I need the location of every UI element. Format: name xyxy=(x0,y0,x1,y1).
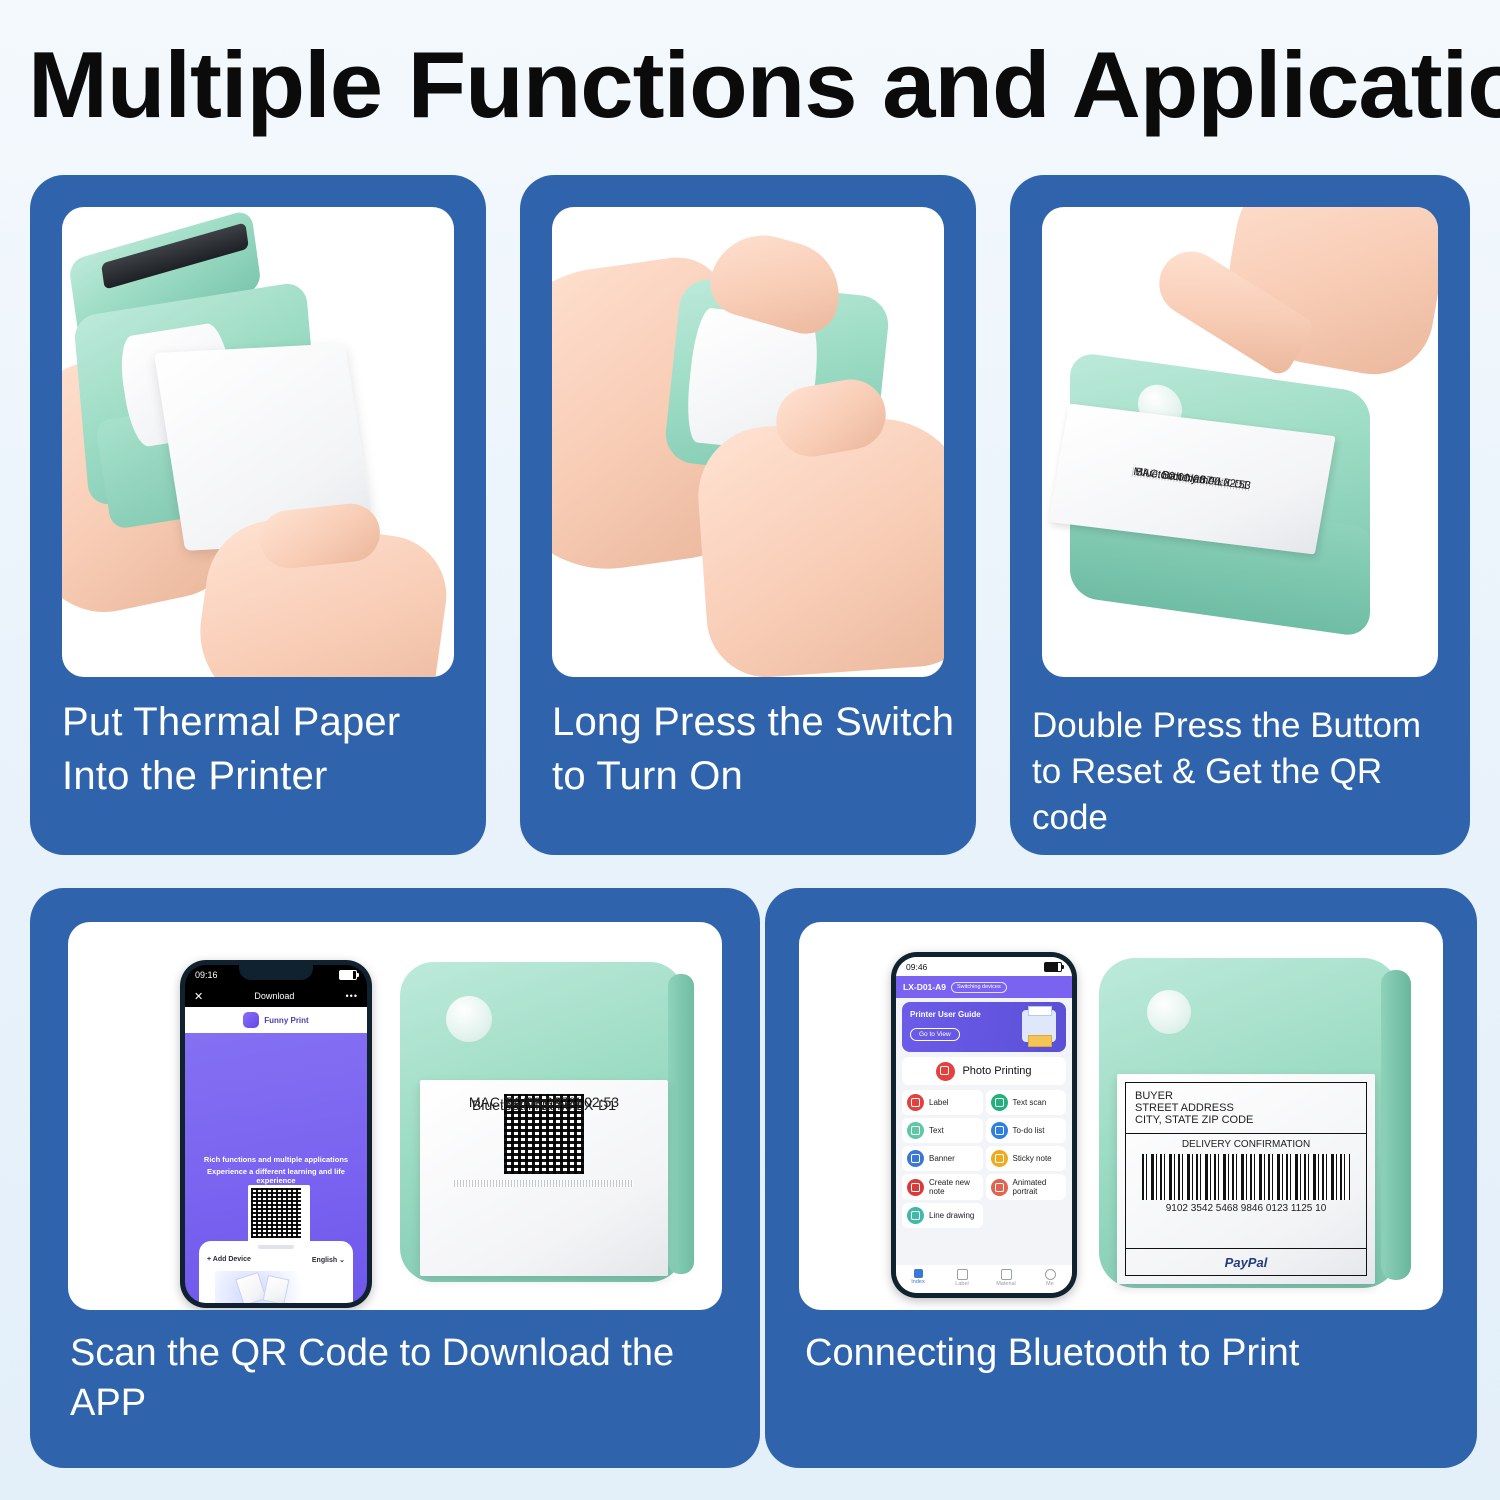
switch-devices-button[interactable]: Switching devices xyxy=(951,982,1007,993)
user-icon xyxy=(1045,1269,1056,1280)
printed-qr-label-content: Bluetooth Name:LX-D1 MAC:C0:00:00:00:02:… xyxy=(420,1080,668,1276)
card-put-thermal-paper: Put Thermal Paper Into the Printer xyxy=(30,175,486,855)
grid-item[interactable]: Create new note xyxy=(902,1174,983,1200)
tab-index[interactable]: Index xyxy=(896,1265,940,1293)
add-device-button[interactable]: + Add Device xyxy=(207,1256,251,1263)
printer-guide-card[interactable]: Printer User Guide Go to View xyxy=(902,1002,1066,1052)
scene-power-on xyxy=(552,207,944,677)
grid-item-label: Banner xyxy=(929,1154,955,1163)
app-name: Funny Print xyxy=(264,1016,308,1025)
phone-screen: 09:16 ✕ Download ••• Funny Print xyxy=(185,965,367,1303)
buyer-line: BUYER xyxy=(1135,1090,1357,1102)
banner-icon xyxy=(907,1150,924,1167)
to-do-list-icon xyxy=(991,1122,1008,1139)
card-long-press-switch: Long Press the Switch to Turn On xyxy=(520,175,976,855)
power-button[interactable] xyxy=(1147,990,1191,1034)
card-5-photo: 09:46 LX-D01-A9 Switching devices Printe… xyxy=(799,922,1443,1310)
chevron-down-icon: ⌄ xyxy=(339,1257,345,1264)
language-selector[interactable]: English ⌄ xyxy=(312,1256,345,1264)
tab-label: Label xyxy=(940,1280,984,1289)
grid-item[interactable]: Text scan xyxy=(986,1090,1067,1115)
label-battery: Battery:87% xyxy=(506,1094,582,1110)
label-battery: Battery:87% xyxy=(1161,469,1223,488)
line-drawing-icon xyxy=(907,1207,924,1224)
scene-download-app: 09:16 ✕ Download ••• Funny Print xyxy=(68,922,722,1310)
app-header: Funny Print xyxy=(185,1007,367,1033)
phone-navbar: ✕ Download ••• xyxy=(185,985,367,1007)
tab-label: Index xyxy=(896,1278,940,1287)
grid-item[interactable]: Text xyxy=(902,1118,983,1143)
grid-item-label: Create new note xyxy=(929,1178,978,1196)
scene-double-press: Bluetooth Name:LX-D1 MAC:C0:00:00:00:02:… xyxy=(1042,207,1438,677)
tag-icon xyxy=(957,1269,968,1280)
home-icon xyxy=(914,1269,923,1278)
printer-side xyxy=(1381,970,1411,1280)
nav-title: Download xyxy=(254,991,294,1001)
file-icon xyxy=(1001,1269,1012,1280)
text-scan-icon xyxy=(991,1094,1008,1111)
card-3-caption: Double Press the Buttom to Reset & Get t… xyxy=(1032,703,1456,841)
grid-item[interactable]: Sticky note xyxy=(986,1146,1067,1171)
card-1-photo xyxy=(62,207,454,677)
card-4-caption: Scan the QR Code to Download the APP xyxy=(70,1328,730,1428)
device-bar: LX-D01-A9 Switching devices xyxy=(896,976,1072,998)
grid-item-label: Text xyxy=(929,1126,944,1135)
status-bar: 09:46 xyxy=(896,957,1072,976)
page-title: Multiple Functions and Applications xyxy=(28,30,1500,140)
grid-item-label: Animated portrait xyxy=(1013,1178,1062,1196)
tab-material[interactable]: Material xyxy=(984,1265,1028,1293)
grid-item[interactable]: Banner xyxy=(902,1146,983,1171)
create-new-note-icon xyxy=(907,1179,924,1196)
close-icon[interactable]: ✕ xyxy=(194,990,203,1003)
photo-printing-label: Photo Printing xyxy=(962,1065,1031,1077)
card-1-caption: Put Thermal Paper Into the Printer xyxy=(62,695,466,803)
battery-icon xyxy=(1044,962,1062,972)
photo-printing-icon xyxy=(936,1062,955,1081)
grid-item-label: Label xyxy=(929,1098,949,1107)
printer-side xyxy=(668,974,694,1274)
tab-label: Me xyxy=(1028,1280,1072,1289)
grid-item[interactable]: To-do list xyxy=(986,1118,1067,1143)
paypal-logo: PayPal xyxy=(1225,1255,1268,1270)
card-double-press-reset: Bluetooth Name:LX-D1 MAC:C0:00:00:00:02:… xyxy=(1010,175,1470,855)
tracking-barcode xyxy=(1142,1154,1350,1200)
guide-title: Printer User Guide xyxy=(910,1010,981,1019)
animated-portrait-icon xyxy=(991,1179,1008,1196)
go-to-view-button[interactable]: Go to View xyxy=(910,1028,960,1041)
text-icon xyxy=(907,1122,924,1139)
card-scan-qr-download: 09:16 ✕ Download ••• Funny Print xyxy=(30,888,760,1468)
more-icon[interactable]: ••• xyxy=(346,991,358,1001)
power-button[interactable] xyxy=(446,996,492,1042)
shipping-label-content: BUYER STREET ADDRESS CITY, STATE ZIP COD… xyxy=(1117,1074,1375,1284)
delivery-confirmation-title: DELIVERY CONFIRMATION xyxy=(1182,1139,1310,1150)
grid-item-label: Line drawing xyxy=(929,1211,974,1220)
tagline-2: Experience a different learning and life… xyxy=(189,1167,363,1185)
card-2-photo xyxy=(552,207,944,677)
device-name: LX-D01-A9 xyxy=(903,982,946,992)
tagline-1: Rich functions and multiple applications xyxy=(191,1155,361,1164)
phone-app-home: 09:46 LX-D01-A9 Switching devices Printe… xyxy=(891,952,1077,1298)
printer-illustration-icon xyxy=(1022,1010,1056,1042)
battery-icon xyxy=(339,970,357,980)
phone-screen: 09:46 LX-D01-A9 Switching devices Printe… xyxy=(896,957,1072,1293)
card-2-caption: Long Press the Switch to Turn On xyxy=(552,695,956,803)
card-3-photo: Bluetooth Name:LX-D1 MAC:C0:00:00:00:02:… xyxy=(1042,207,1438,677)
sheet-handle[interactable] xyxy=(258,1245,294,1249)
app-body: Rich functions and multiple applications… xyxy=(185,1033,367,1303)
tab-label-page[interactable]: Label xyxy=(940,1265,984,1293)
label-icon xyxy=(907,1094,924,1111)
status-bar: 09:16 xyxy=(185,965,367,985)
status-time: 09:16 xyxy=(195,970,218,980)
photo-printing-button[interactable]: Photo Printing xyxy=(902,1057,1066,1085)
scene-load-paper xyxy=(62,207,454,677)
grid-item[interactable]: Animated portrait xyxy=(986,1174,1067,1200)
grid-item[interactable]: Line drawing xyxy=(902,1203,983,1228)
city-line: CITY, STATE ZIP CODE xyxy=(1135,1114,1357,1126)
grid-item-label: To-do list xyxy=(1013,1126,1045,1135)
scene-bluetooth-print: 09:46 LX-D01-A9 Switching devices Printe… xyxy=(799,922,1443,1310)
phone-download: 09:16 ✕ Download ••• Funny Print xyxy=(180,960,372,1308)
download-qr-code[interactable] xyxy=(248,1185,310,1247)
card-4-photo: 09:16 ✕ Download ••• Funny Print xyxy=(68,922,722,1310)
feature-grid: Label Text scan Text To-do list xyxy=(902,1090,1066,1228)
grid-item[interactable]: Label xyxy=(902,1090,983,1115)
tracking-number: 9102 3542 5468 9846 0123 1125 10 xyxy=(1166,1203,1327,1214)
status-time: 09:46 xyxy=(906,962,927,972)
grid-item-label: Sticky note xyxy=(1013,1154,1052,1163)
card-connect-bluetooth-print: 09:46 LX-D01-A9 Switching devices Printe… xyxy=(765,888,1477,1468)
street-line: STREET ADDRESS xyxy=(1135,1102,1357,1114)
tab-bar: Index Label Material Me xyxy=(896,1265,1072,1293)
bottom-sheet: + Add Device English ⌄ xyxy=(199,1241,353,1303)
grid-item-label: Text scan xyxy=(1013,1098,1047,1107)
card-5-caption: Connecting Bluetooth to Print xyxy=(805,1328,1455,1378)
language-label: English xyxy=(312,1257,337,1264)
label-strip xyxy=(454,1180,634,1187)
tab-label: Material xyxy=(984,1280,1028,1289)
funny-print-logo-icon xyxy=(243,1012,259,1028)
sticky-note-icon xyxy=(991,1150,1008,1167)
tab-me[interactable]: Me xyxy=(1028,1265,1072,1293)
